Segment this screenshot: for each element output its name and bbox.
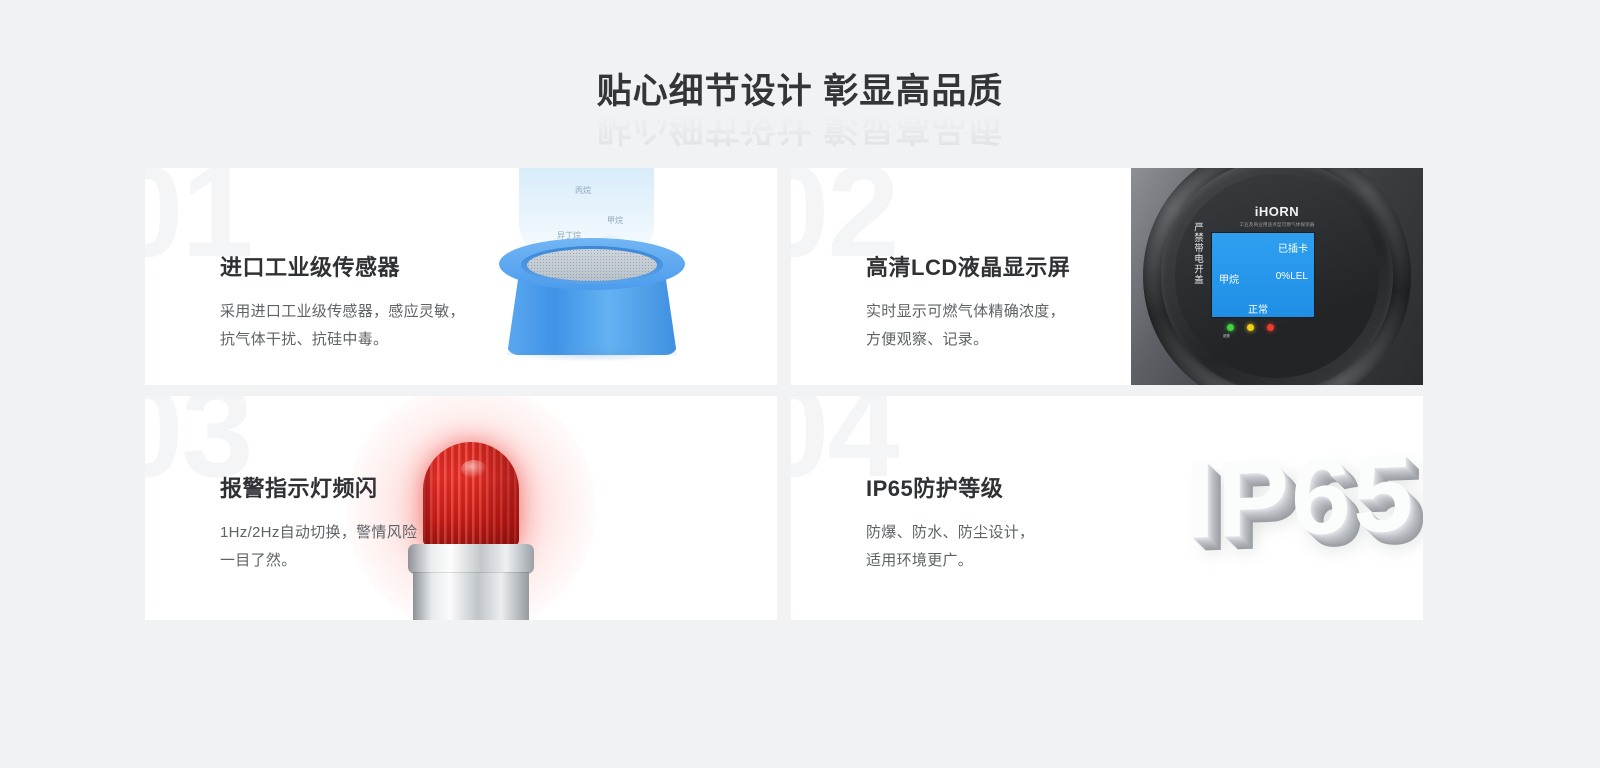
card-description: 1Hz/2Hz自动切换，警情风险 一目了然。	[220, 519, 417, 575]
lcd-card-status: 已插卡	[1278, 240, 1308, 255]
card-description-line: 抗气体干扰、抗硅中毒。	[220, 326, 465, 354]
page-title-reflection: 贴心细节设计 彰显高品质	[0, 113, 1600, 147]
card-text-block: IP65防护等级 防爆、防水、防尘设计， 适用环境更广。	[866, 471, 1034, 575]
feature-card-sensor[interactable]: 01 丙烷 甲烷 异丁烷 氢气 进口工业级传感器 采用进口工业级传感器，感应灵敏…	[145, 168, 777, 385]
card-description-line: 防爆、防水、防尘设计，	[866, 519, 1034, 547]
detector-face: iHORN 工业及商业用途点型可燃气体探测器 严禁带电开盖 已插卡 甲烷 0%L…	[1175, 174, 1379, 378]
card-description: 防爆、防水、防尘设计， 适用环境更广。	[866, 519, 1034, 575]
feature-highlights-page: 贴心细节设计 彰显高品质 贴心细节设计 彰显高品质 01 丙烷 甲烷 异丁烷 氢…	[0, 0, 1600, 768]
sensor-shadow	[505, 346, 679, 362]
detector-subtitle: 工业及商业用途点型可燃气体探测器	[1175, 222, 1379, 228]
detector-brand-label: iHORN	[1175, 204, 1379, 219]
beacon-highlight	[461, 460, 487, 478]
beacon-dome	[423, 442, 519, 546]
detector-warning-text: 严禁带电开盖	[1188, 222, 1202, 285]
lcd-state: 正常	[1248, 301, 1268, 316]
feature-card-grid: 01 丙烷 甲烷 异丁烷 氢气 进口工业级传感器 采用进口工业级传感器，感应灵敏…	[145, 168, 1422, 620]
page-title: 贴心细节设计 彰显高品质	[0, 72, 1600, 112]
gas-label-propane: 丙烷	[575, 185, 591, 196]
card-text-block: 进口工业级传感器 采用进口工业级传感器，感应灵敏， 抗气体干扰、抗硅中毒。	[220, 250, 465, 354]
card-title: 高清LCD液晶显示屏	[866, 250, 1070, 282]
card-text-block: 报警指示灯频闪 1Hz/2Hz自动切换，警情风险 一目了然。	[220, 471, 417, 575]
beacon-base-barrel	[413, 572, 529, 620]
card-title: 报警指示灯频闪	[220, 471, 417, 503]
ip65-label: IP65	[1185, 430, 1415, 563]
card-description-line: 1Hz/2Hz自动切换，警情风险	[220, 519, 417, 547]
card-description-line: 采用进口工业级传感器，感应灵敏，	[220, 298, 465, 326]
feature-card-ip65[interactable]: 04 IP65 IP65防护等级 防爆、防水、防尘设计， 适用环境更广。	[791, 396, 1423, 620]
led-alarm-label: 报警	[1223, 333, 1230, 338]
feature-card-lcd-display[interactable]: 02 iHORN 工业及商业用途点型可燃气体探测器 严禁带电开盖 已插卡 甲烷 …	[791, 168, 1423, 385]
lcd-gas-name: 甲烷	[1219, 271, 1239, 286]
card-description-line: 一目了然。	[220, 547, 417, 575]
section-title-block: 贴心细节设计 彰显高品质 贴心细节设计 彰显高品质	[0, 72, 1600, 147]
lcd-reading-value: 0%LEL	[1276, 271, 1308, 282]
gas-detector-photo: iHORN 工业及商业用途点型可燃气体探测器 严禁带电开盖 已插卡 甲烷 0%L…	[1131, 168, 1423, 385]
gas-sensor-illustration: 丙烷 甲烷 异丁烷 氢气	[459, 168, 759, 385]
detector-led-row: 电源 工作 报警	[1227, 324, 1274, 331]
card-title: 进口工业级传感器	[220, 250, 465, 282]
card-description-line: 适用环境更广。	[866, 547, 1034, 575]
beacon-collar	[408, 544, 534, 574]
led-alarm-icon: 报警	[1267, 324, 1274, 331]
card-description: 实时显示可燃气体精确浓度， 方便观察、记录。	[866, 298, 1070, 354]
sensor-mesh-icon	[527, 249, 657, 281]
feature-card-alarm-light[interactable]: 03 报警指示灯频闪 1Hz/2Hz自动切换，警情风险 一目了然。	[145, 396, 777, 620]
led-working-icon: 工作	[1247, 324, 1254, 331]
card-description-line: 方便观察、记录。	[866, 326, 1070, 354]
card-description: 采用进口工业级传感器，感应灵敏， 抗气体干扰、抗硅中毒。	[220, 298, 465, 354]
gas-label-methane: 甲烷	[607, 215, 623, 226]
detector-lcd-screen: 已插卡 甲烷 0%LEL 正常	[1211, 232, 1315, 318]
card-description-line: 实时显示可燃气体精确浓度，	[866, 298, 1070, 326]
card-text-block: 高清LCD液晶显示屏 实时显示可燃气体精确浓度， 方便观察、记录。	[866, 250, 1070, 354]
led-power-icon: 电源	[1227, 324, 1234, 331]
card-title: IP65防护等级	[866, 471, 1034, 503]
ip65-3d-text-art: IP65	[1115, 410, 1415, 600]
